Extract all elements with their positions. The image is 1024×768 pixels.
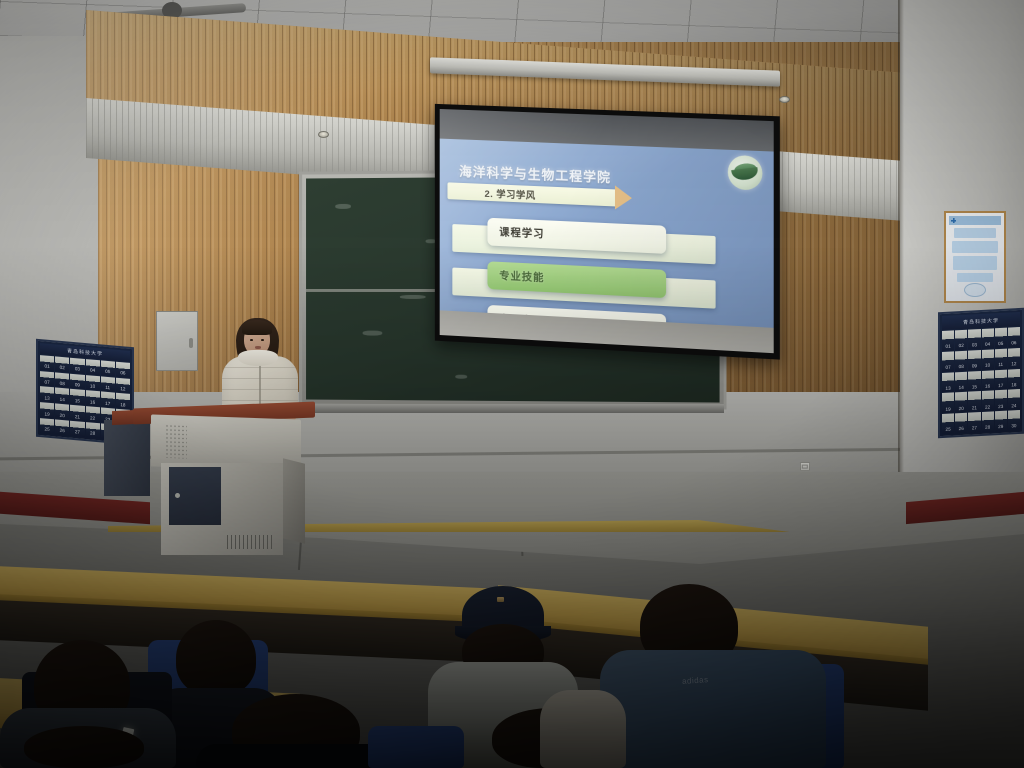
student-body-adidas-jacket (600, 650, 826, 768)
pocket-cell[interactable]: 06 (116, 361, 130, 377)
pocket-cell[interactable]: 17 (995, 369, 1007, 389)
pocket-cell-number: 19 (45, 412, 50, 418)
chalk-smudge (335, 204, 351, 209)
chalk-smudge (363, 331, 383, 336)
pocket-cell-number: 22 (985, 405, 990, 411)
slide-bullet-row: 课程学习 (452, 216, 715, 264)
podium-speaker-grille (165, 424, 187, 459)
pocket-cell[interactable]: 13 (942, 372, 954, 392)
pocket-cell[interactable]: 26 (955, 413, 967, 433)
pocket-cell[interactable]: 19 (40, 402, 54, 418)
pocket-cell[interactable]: 10 (982, 349, 994, 369)
slide-org-title: 海洋科学与生物工程学院 (459, 161, 611, 186)
pocket-cell-number: 05 (105, 370, 110, 376)
presentation-slide: 海洋科学与生物工程学院 2. 学习学风 课程学习 专业技能 (440, 109, 774, 353)
student-head-foreground (24, 726, 144, 768)
pocket-cell[interactable]: 19 (942, 393, 954, 413)
pocket-cell[interactable]: 01 (942, 331, 954, 351)
pocket-cell[interactable]: 25 (40, 418, 54, 434)
presenter-mouth (255, 346, 261, 349)
pocket-cell-number: 30 (1011, 425, 1016, 431)
pocket-cell[interactable]: 27 (70, 421, 84, 437)
pocket-cell[interactable]: 17 (101, 392, 115, 408)
poster-diagram-node (964, 283, 986, 297)
pocket-cell-number: 11 (998, 363, 1003, 369)
pocket-cell-number: 06 (120, 371, 125, 377)
pocket-cell-number: 10 (985, 364, 990, 370)
chalk-smudge (400, 295, 426, 299)
pocket-cell[interactable]: 12 (1008, 348, 1020, 368)
pocket-cell-number: 21 (972, 406, 977, 412)
pocket-cell[interactable]: 03 (70, 358, 84, 374)
pocket-cell[interactable]: 13 (40, 387, 54, 403)
chalkboard-tray (300, 404, 724, 413)
pocket-cell-number: 27 (972, 427, 977, 433)
downlight-icon (779, 96, 790, 103)
pocket-cell-number: 21 (75, 415, 80, 421)
pocket-cell[interactable]: 01 (40, 355, 54, 371)
pocket-cell-number: 07 (946, 366, 951, 372)
pocket-cell[interactable]: 06 (1008, 327, 1020, 347)
pocket-cell[interactable]: 25 (942, 414, 954, 434)
pocket-cell-number: 03 (75, 367, 80, 373)
pocket-cell[interactable]: 16 (982, 370, 994, 390)
pocket-cell-number: 16 (90, 400, 95, 406)
pocket-cell[interactable]: 11 (101, 376, 115, 392)
pocket-cell[interactable]: 07 (942, 351, 954, 371)
pocket-cell[interactable]: 12 (116, 377, 130, 393)
pocket-cell-number: 23 (998, 404, 1003, 410)
podium-vent (227, 535, 275, 549)
pocket-cell[interactable]: 22 (86, 406, 100, 422)
pocket-cell-number: 10 (90, 384, 95, 390)
pocket-cell[interactable]: 15 (70, 389, 84, 405)
pocket-cell-number: 18 (120, 403, 125, 409)
pocket-cell[interactable]: 09 (968, 350, 980, 370)
pocket-cell-number: 03 (972, 344, 977, 350)
phone-pocket-board-right: 青岛科技大学 010203040506070809101112131415161… (938, 308, 1024, 439)
jacket-collar (238, 350, 278, 366)
student-body (540, 690, 626, 768)
pocket-cell-number: 12 (120, 387, 125, 393)
poster-text-line (952, 241, 999, 253)
pocket-cell-number: 05 (998, 342, 1003, 348)
pocket-cell-number: 14 (60, 397, 65, 403)
pocket-cell[interactable]: 14 (955, 371, 967, 391)
podium-side-panel (283, 458, 305, 543)
pocket-cell-number: 04 (90, 368, 95, 374)
pocket-cell[interactable]: 05 (995, 328, 1007, 348)
student-body (196, 744, 396, 768)
pocket-cell[interactable]: 08 (55, 372, 69, 388)
pocket-cell[interactable]: 04 (86, 359, 100, 375)
pocket-cell-number: 26 (959, 427, 964, 433)
student-head (176, 620, 256, 696)
pocket-cell[interactable]: 23 (995, 390, 1007, 410)
pocket-cell-number: 15 (75, 399, 80, 405)
pocket-cell-number: 01 (946, 345, 951, 351)
downlight-icon (318, 131, 329, 138)
pocket-cell[interactable]: 21 (70, 405, 84, 421)
pocket-cell[interactable]: 02 (55, 356, 69, 372)
pocket-cell-number: 27 (75, 431, 80, 437)
pocket-cell-number: 06 (1011, 341, 1016, 347)
pocket-cell[interactable]: 27 (968, 412, 980, 432)
pocket-cell-number: 17 (105, 401, 110, 407)
pocket-cell[interactable]: 30 (1008, 410, 1020, 430)
cap-logo-icon (497, 597, 504, 602)
wall-utility-box (156, 311, 198, 371)
pocket-cell[interactable]: 14 (55, 388, 69, 404)
pocket-cell[interactable]: 18 (1008, 369, 1020, 389)
emblem-wave-lower (731, 167, 759, 181)
pocket-cell-number: 17 (998, 384, 1003, 390)
poster-text-line (957, 273, 993, 282)
pocket-cell-number: 13 (45, 396, 50, 402)
slide-section-arrow-icon (615, 185, 632, 210)
pocket-cell[interactable]: 24 (1008, 389, 1020, 409)
pocket-cell-number: 02 (959, 344, 964, 350)
pocket-board-grid: 0102030405060708091011121314151617181920… (942, 326, 1020, 434)
pocket-cell[interactable]: 08 (955, 351, 967, 371)
lecture-hall-scene: 海洋科学与生物工程学院 2. 学习学风 课程学习 专业技能 (0, 0, 1024, 768)
projection-screen[interactable]: 海洋科学与生物工程学院 2. 学习学风 课程学习 专业技能 (435, 104, 780, 360)
pocket-cell-number: 12 (1011, 362, 1016, 368)
pocket-cell-number: 25 (45, 428, 50, 434)
pocket-cell[interactable]: 16 (86, 390, 100, 406)
cross-icon (951, 218, 956, 223)
pocket-cell[interactable]: 29 (995, 411, 1007, 431)
pocket-cell-number: 11 (105, 386, 110, 392)
jacket-brand-text: adidas (682, 675, 709, 686)
poster-text-line (953, 256, 997, 270)
pocket-cell-number: 20 (959, 407, 964, 413)
audience-chair (368, 726, 464, 768)
poster-header (949, 216, 1001, 225)
pocket-cell-number: 02 (60, 366, 65, 372)
pocket-cell-number: 15 (972, 385, 977, 391)
pocket-cell-number: 16 (985, 384, 990, 390)
podium-microphone-icon (175, 493, 180, 498)
pocket-cell[interactable]: 28 (86, 422, 100, 438)
pocket-cell[interactable]: 28 (982, 412, 994, 432)
pocket-cell[interactable]: 09 (70, 373, 84, 389)
pocket-cell[interactable]: 21 (968, 391, 980, 411)
pocket-cell-number: 19 (946, 407, 951, 413)
pocket-cell-number: 08 (60, 382, 65, 388)
chalk-smudge (455, 375, 467, 379)
pocket-cell-number: 29 (998, 425, 1003, 431)
pocket-cell-number: 08 (959, 365, 964, 371)
pocket-cell[interactable]: 11 (995, 349, 1007, 369)
pocket-cell-number: 13 (946, 386, 951, 392)
pocket-cell-number: 18 (1011, 383, 1016, 389)
pocket-cell[interactable]: 20 (955, 392, 967, 412)
slide-bullet-label: 专业技能 (499, 268, 544, 285)
pocket-cell-number: 04 (985, 343, 990, 349)
pocket-cell-number: 24 (1011, 404, 1016, 410)
pocket-cell[interactable]: 22 (982, 391, 994, 411)
pocket-cell-number: 25 (946, 428, 951, 434)
pocket-cell-number: 28 (985, 426, 990, 432)
pocket-cell-number: 07 (45, 380, 50, 386)
pocket-cell[interactable]: 26 (55, 420, 69, 436)
pocket-cell[interactable]: 03 (968, 329, 980, 349)
pocket-cell[interactable]: 07 (40, 371, 54, 387)
pocket-cell-number: 28 (90, 432, 95, 438)
pocket-cell-number: 26 (60, 429, 65, 435)
presenter-eye (261, 339, 264, 341)
presenter-bangs (242, 320, 272, 335)
presenter-eye (250, 339, 253, 341)
slide-section-label: 2. 学习学风 (485, 186, 536, 202)
pocket-cell[interactable]: 02 (955, 330, 967, 350)
pocket-cell-number: 14 (959, 386, 964, 392)
pocket-cell-number: 20 (60, 413, 65, 419)
wall-outlet[interactable] (800, 462, 810, 471)
projection-screen-surface: 海洋科学与生物工程学院 2. 学习学风 课程学习 专业技能 (440, 109, 774, 353)
slide-body: 海洋科学与生物工程学院 2. 学习学风 课程学习 专业技能 (440, 138, 774, 327)
slide-bullet-label: 课程学习 (499, 224, 544, 241)
pocket-cell[interactable]: 15 (968, 371, 980, 391)
pocket-cell-number: 22 (90, 416, 95, 422)
pocket-cell[interactable]: 04 (982, 328, 994, 348)
slide-bullet-row: 专业技能 (452, 259, 715, 308)
podium-base (161, 463, 283, 555)
college-emblem-icon (728, 155, 763, 191)
pocket-cell-number: 09 (75, 383, 80, 389)
pocket-cell[interactable]: 10 (86, 375, 100, 391)
poster-text-line (954, 228, 996, 238)
pocket-cell[interactable]: 20 (55, 404, 69, 420)
pocket-cell[interactable]: 18 (116, 393, 130, 409)
lecture-podium[interactable] (133, 405, 315, 553)
pocket-cell[interactable]: 05 (101, 360, 115, 376)
pocket-cell-number: 01 (45, 364, 50, 370)
pocket-cell-number: 09 (972, 364, 977, 370)
emergency-procedure-poster (944, 211, 1006, 303)
